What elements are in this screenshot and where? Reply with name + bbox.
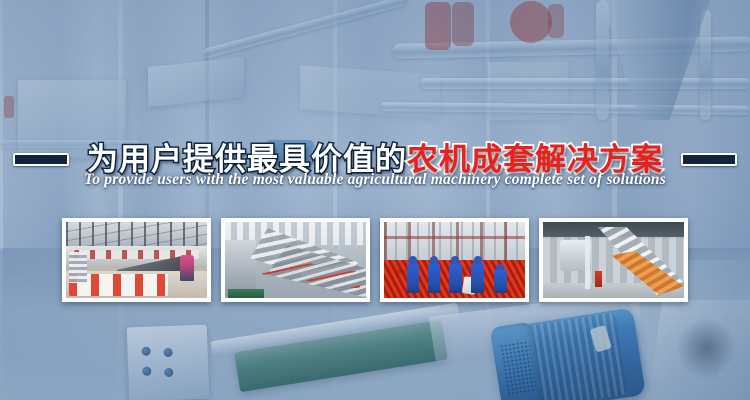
thumb3-worker xyxy=(407,263,420,293)
hero-banner: 为用户提供最具价值的农机成套解决方案 To provide users with… xyxy=(0,0,750,400)
thumb3-worker xyxy=(471,263,484,293)
thumb1-cart xyxy=(69,252,87,282)
background-photo xyxy=(0,0,750,400)
thumb3-worker xyxy=(449,263,462,293)
decorative-dash-left-icon xyxy=(13,153,69,166)
thumbnail-item-3[interactable] xyxy=(380,218,529,302)
thumb3-beam xyxy=(384,236,525,240)
thumb4-red-marker xyxy=(595,271,602,288)
thumbnail-item-2[interactable] xyxy=(221,218,370,302)
thumb2-green-base xyxy=(228,289,265,298)
thumb1-worker xyxy=(180,255,194,281)
thumbnail-image-factory-line xyxy=(66,222,207,298)
thumb3-worker xyxy=(494,269,507,293)
thumbnail-strip xyxy=(62,218,688,302)
thumb1-roof xyxy=(66,222,207,248)
page-subtitle: To provide users with the most valuable … xyxy=(0,171,750,189)
thumbnail-image-chili-workers xyxy=(384,222,525,298)
thumbnail-image-conveyor-cleanroom xyxy=(225,222,366,298)
thumbnail-image-produce-conveyor xyxy=(543,222,684,298)
thumb3-worker xyxy=(428,263,441,293)
thumbnail-item-4[interactable] xyxy=(539,218,688,302)
decorative-dash-right-icon xyxy=(681,153,737,166)
thumbnail-item-1[interactable] xyxy=(62,218,211,302)
background-haze xyxy=(0,0,750,400)
thumb4-post xyxy=(585,236,589,289)
